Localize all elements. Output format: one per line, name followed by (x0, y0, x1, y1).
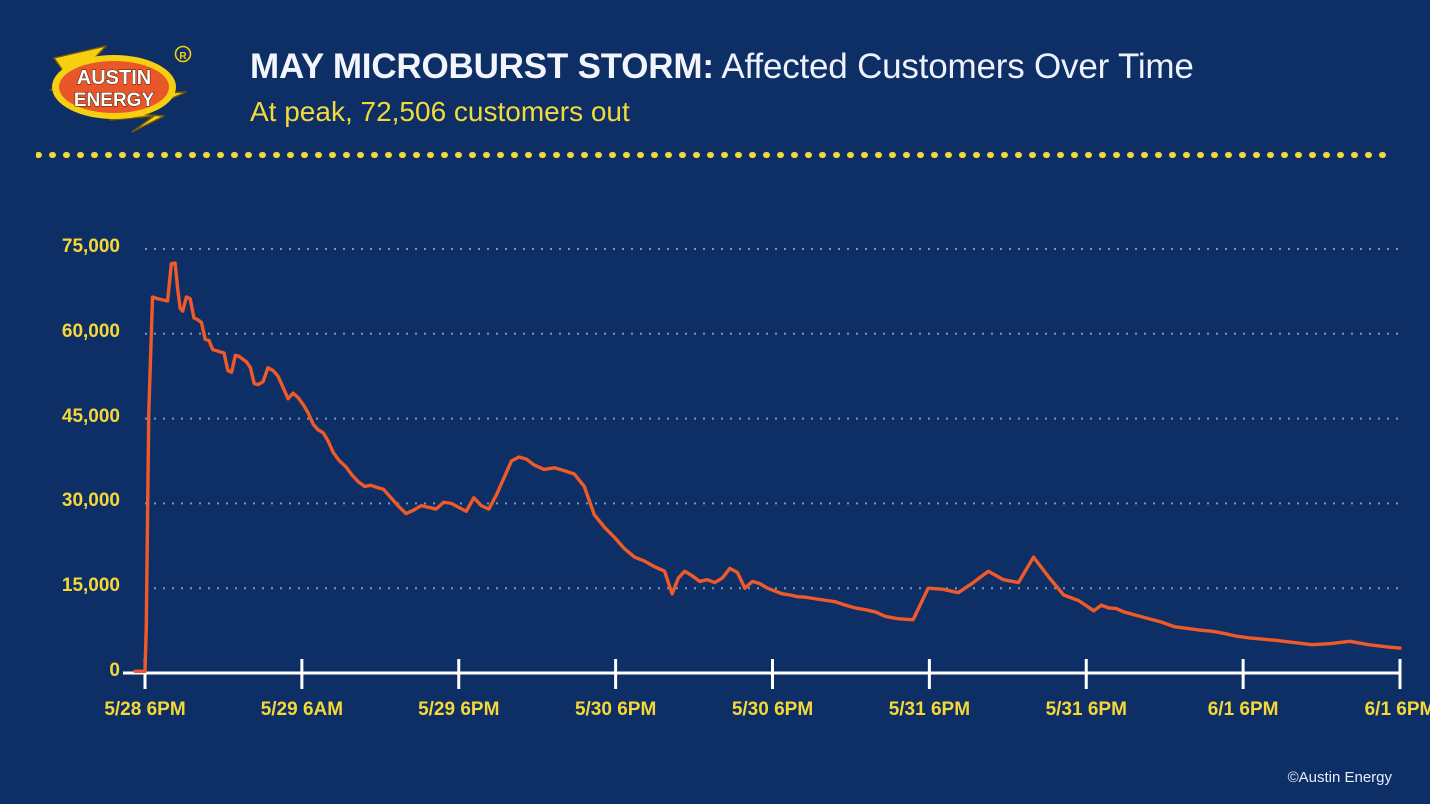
copyright-notice: ©Austin Energy (1288, 769, 1392, 786)
registered-trademark-letter: R (179, 51, 187, 62)
y-axis-label-3: 45,000 (8, 406, 120, 428)
x-axis-label-4: 5/30 6PM (732, 699, 813, 721)
y-axis-label-4: 60,000 (8, 321, 120, 343)
line-chart (0, 150, 1430, 750)
chart-container: 015,00030,00045,00060,00075,000 5/28 6PM… (0, 150, 1430, 750)
x-axis-label-7: 6/1 6PM (1208, 699, 1279, 721)
page-title-bold: MAY MICROBURST STORM: (250, 47, 714, 86)
x-axis-label-2: 5/29 6PM (418, 699, 499, 721)
logo-line1: AUSTIN (77, 67, 151, 89)
x-axis-label-1: 5/29 6AM (261, 699, 343, 721)
x-axis-label-3: 5/30 6PM (575, 699, 656, 721)
logo-line2: ENERGY (74, 90, 155, 111)
y-axis-label-2: 30,000 (8, 490, 120, 512)
header: AUSTIN ENERGY R MAY MICROBURST STORM: Af… (0, 0, 1430, 150)
y-axis-label-0: 0 (8, 660, 120, 682)
x-axis-label-5: 5/31 6PM (889, 699, 970, 721)
infographic-root: AUSTIN ENERGY R MAY MICROBURST STORM: Af… (0, 0, 1430, 804)
series-affected-customers (135, 263, 1400, 671)
chart-gridlines (145, 249, 1400, 588)
austin-energy-logo: AUSTIN ENERGY R (36, 32, 204, 144)
x-axis-label-8: 6/1 6PM (1365, 699, 1430, 721)
x-axis-label-0: 5/28 6PM (104, 699, 185, 721)
title-block: MAY MICROBURST STORM: Affected Customers… (250, 46, 1410, 129)
page-subtitle: At peak, 72,506 customers out (250, 95, 1410, 129)
logo-svg: AUSTIN ENERGY R (36, 32, 204, 144)
page-title: MAY MICROBURST STORM: Affected Customers… (250, 46, 1410, 88)
page-title-rest: Affected Customers Over Time (714, 47, 1194, 86)
y-axis-label-1: 15,000 (8, 575, 120, 597)
x-axis-label-6: 5/31 6PM (1046, 699, 1127, 721)
y-axis-label-5: 75,000 (8, 236, 120, 258)
